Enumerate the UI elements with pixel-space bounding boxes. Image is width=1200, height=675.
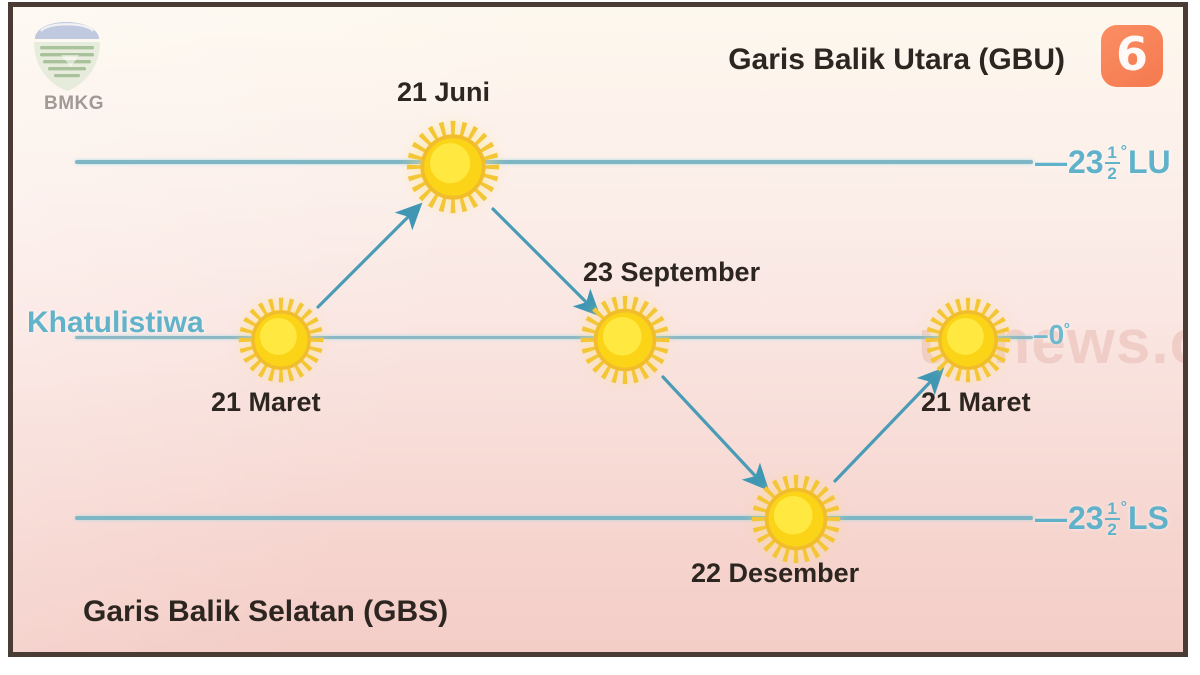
- latitude-whole-gbs: 23: [1068, 500, 1104, 537]
- equator-line: [75, 336, 1033, 339]
- arrow-september-to-desember: [663, 377, 760, 481]
- latitude-fraction-denominator-gbs: 2: [1105, 521, 1118, 538]
- slide-number-badge: 6: [1101, 25, 1163, 87]
- sun-marker-juni: [405, 119, 501, 215]
- bmkg-logo-icon: [21, 11, 113, 93]
- date-label-23-september: 23 September: [583, 257, 760, 288]
- screenshot-root: ucnews.com BMKG 6: [0, 0, 1200, 675]
- latitude-fraction-numerator-gbs: 1: [1105, 500, 1118, 517]
- latitude-label-equator: –0º: [1033, 319, 1070, 351]
- sun-marker-maret-1: [237, 296, 325, 384]
- diagram-frame: ucnews.com BMKG 6: [8, 2, 1188, 657]
- date-label-21-juni: 21 Juni: [397, 77, 490, 108]
- date-label-22-desember: 22 Desember: [691, 558, 859, 589]
- latitude-dash-gbs: —: [1035, 500, 1067, 537]
- latitude-dash-gbu: —: [1035, 144, 1067, 181]
- latitude-dash-equator: –: [1033, 319, 1049, 350]
- latitude-degree-gbs: °: [1121, 499, 1127, 517]
- latitude-fraction-denominator-gbu: 2: [1105, 165, 1118, 182]
- latitude-label-gbs: — 23 1 2 ° LS: [1035, 499, 1169, 537]
- sun-marker-desember: [750, 473, 842, 565]
- latitude-fraction-numerator-gbu: 1: [1105, 144, 1118, 161]
- arrow-juni-to-september: [493, 209, 591, 307]
- latitude-whole-gbu: 23: [1068, 144, 1104, 181]
- latitude-value-equator: 0: [1049, 319, 1065, 350]
- latitude-label-gbu: — 23 1 2 ° LU: [1035, 143, 1171, 181]
- tropic-of-cancer-line: [75, 160, 1033, 164]
- sun-marker-maret-2: [924, 296, 1012, 384]
- latitude-fraction-gbu: 1 2: [1105, 144, 1120, 182]
- bmkg-logo-text: BMKG: [29, 93, 119, 115]
- bmkg-logo: BMKG: [21, 11, 113, 111]
- arrow-maret1-to-juni: [318, 212, 413, 307]
- date-label-21-maret-left: 21 Maret: [211, 387, 321, 418]
- label-garis-balik-selatan: Garis Balik Selatan (GBS): [83, 595, 448, 629]
- label-garis-balik-utara: Garis Balik Utara (GBU): [728, 43, 1065, 77]
- date-label-21-maret-right: 21 Maret: [921, 387, 1031, 418]
- latitude-degree-equator: º: [1064, 321, 1069, 338]
- slide-number-value: 6: [1116, 31, 1148, 77]
- latitude-degree-gbu: °: [1121, 143, 1127, 161]
- arrow-desember-to-maret2: [835, 377, 935, 481]
- latitude-fraction-gbs: 1 2: [1105, 500, 1120, 538]
- latitude-hemisphere-gbu: LU: [1128, 144, 1171, 181]
- latitude-hemisphere-gbs: LS: [1128, 500, 1169, 537]
- sun-marker-september: [579, 294, 671, 386]
- label-khatulistiwa: Khatulistiwa: [27, 306, 204, 340]
- tropic-of-capricorn-line: [75, 516, 1033, 520]
